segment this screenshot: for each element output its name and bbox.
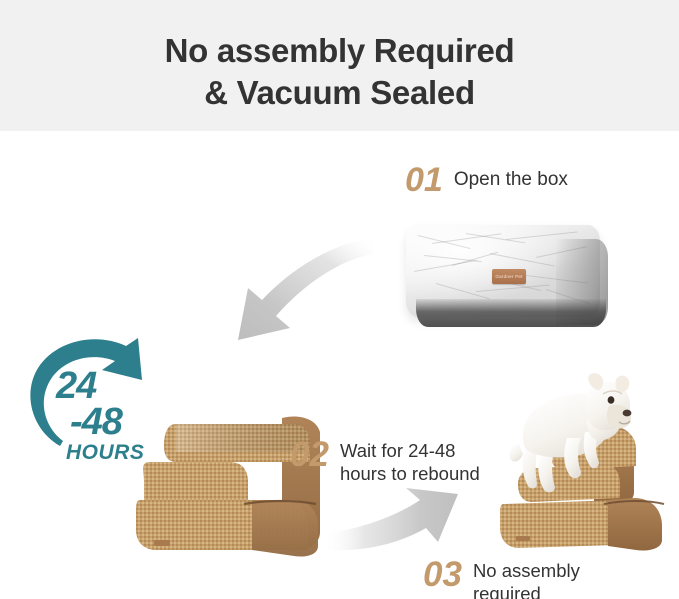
- step-02: 02 Wait for 24-48 hours to rebound: [290, 437, 480, 485]
- dog-eye: [608, 396, 615, 404]
- page-title: No assembly Required & Vacuum Sealed: [0, 30, 679, 114]
- package-brand-label: Gardner Pet: [492, 269, 526, 284]
- step-01-number: 01: [405, 163, 443, 197]
- step-03-number: 03: [423, 557, 462, 592]
- package-brand-label-text: Gardner Pet: [495, 274, 522, 279]
- curved-arrow-down-left-icon: [176, 232, 376, 347]
- step-01: 01 Open the box: [405, 163, 568, 197]
- stairs-left-tag: [154, 540, 170, 546]
- vacuum-package-illustration: Gardner Pet: [398, 215, 608, 335]
- header-band: No assembly Required & Vacuum Sealed: [0, 0, 679, 131]
- dog-tail: [509, 444, 523, 462]
- infographic-page: No assembly Required & Vacuum Sealed 01 …: [0, 0, 679, 599]
- stairs-left-base-wedge: [252, 500, 318, 557]
- package-body: Gardner Pet: [406, 225, 600, 317]
- dog-front-leg: [564, 438, 581, 478]
- crinkle-line: [476, 285, 550, 292]
- pet-stairs-illustration-left: [132, 400, 362, 575]
- french-bulldog-icon: [505, 372, 635, 512]
- step-02-label: Wait for 24-48 hours to rebound: [340, 437, 480, 485]
- step-03: 03 No assembly required: [423, 557, 580, 599]
- dog-ear-right: [616, 376, 630, 393]
- step-01-label: Open the box: [454, 163, 568, 191]
- step-03-label: No assembly required: [473, 557, 580, 599]
- package-bottom-edge: [416, 299, 606, 327]
- hours-badge-line1: 24: [56, 368, 184, 404]
- arrow-1-shape: [238, 238, 374, 340]
- stairs-right-tag: [516, 536, 530, 541]
- crinkle-line: [432, 233, 501, 244]
- dog-nose: [623, 410, 632, 417]
- crinkle-line: [414, 260, 477, 272]
- step-02-number: 02: [290, 437, 329, 472]
